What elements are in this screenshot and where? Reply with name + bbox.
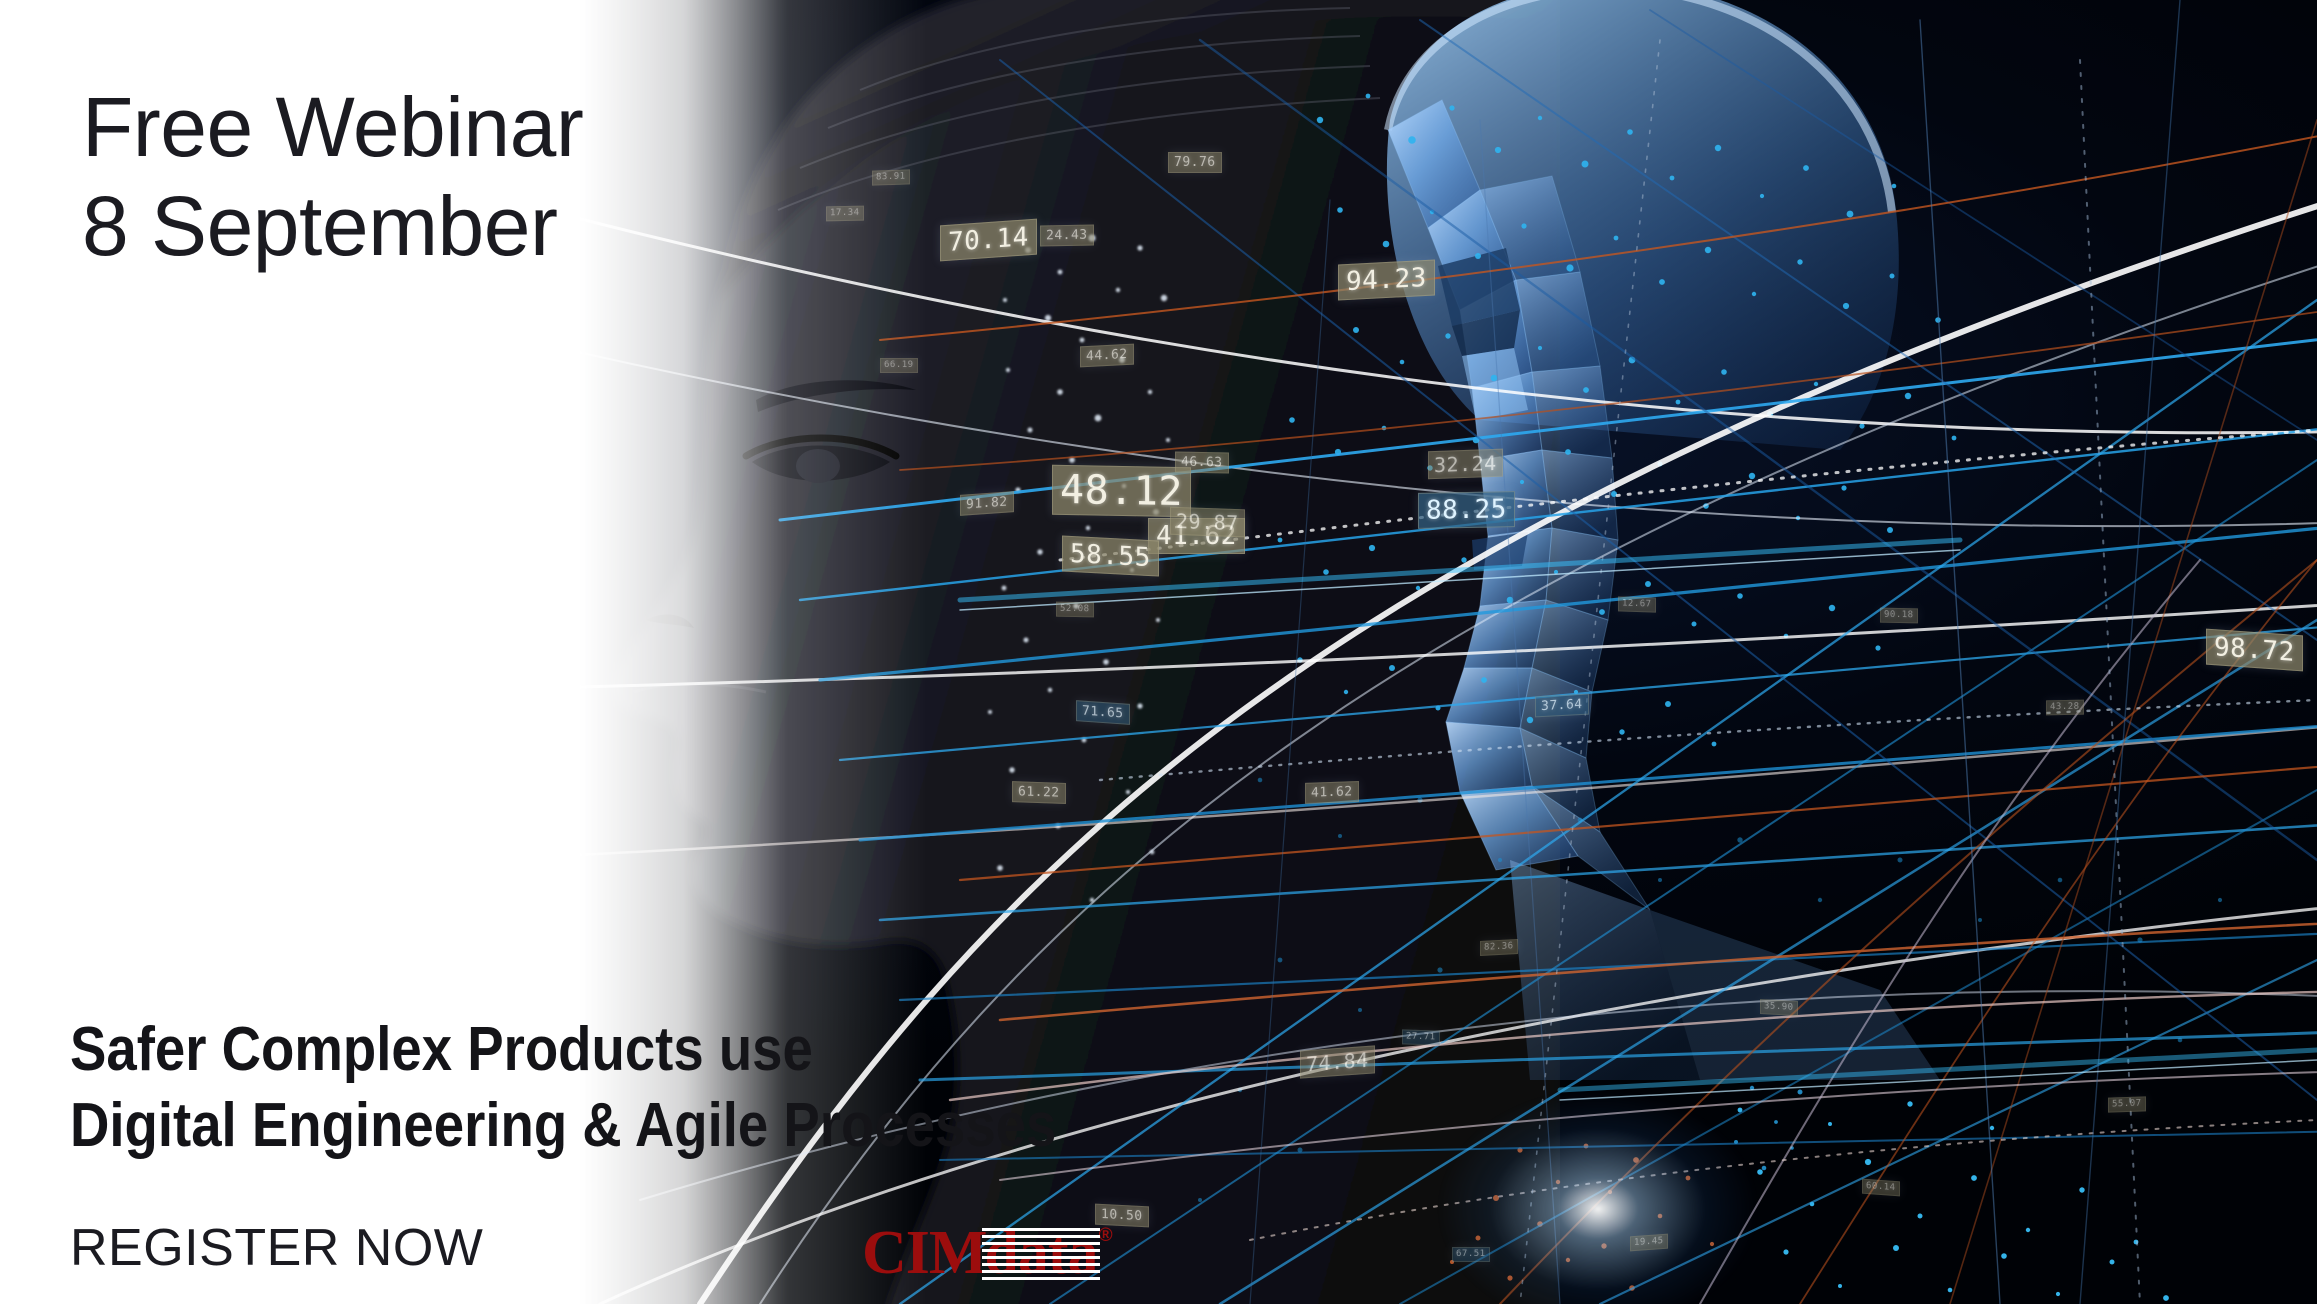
data-label: 74.84: [1300, 1045, 1375, 1078]
data-label: 37.64: [1535, 694, 1589, 718]
data-label: 12.67: [1618, 596, 1656, 612]
data-label: 94.23: [1338, 259, 1435, 300]
data-label: 98.72: [2206, 629, 2303, 672]
data-label: 67.51: [1452, 1247, 1490, 1262]
data-label: 17.34: [826, 206, 864, 222]
data-label: 79.76: [1168, 152, 1222, 173]
page-title: Free Webinar 8 September: [82, 78, 583, 276]
data-label: 52.08: [1056, 602, 1094, 618]
data-label: 44.62: [1080, 344, 1134, 368]
subhead-line-1: Safer Complex Products use: [70, 1012, 1056, 1088]
headline-line-1: Free Webinar: [82, 78, 583, 177]
subhead-line-2: Digital Engineering & Agile Processes: [70, 1088, 1056, 1164]
data-label: 19.45: [1630, 1234, 1668, 1252]
webinar-subject: Safer Complex Products use Digital Engin…: [70, 1012, 1056, 1163]
data-label: 61.22: [1012, 781, 1066, 804]
data-label: 58.55: [1062, 535, 1159, 576]
registered-trademark-icon: ®: [1099, 1226, 1113, 1245]
data-label: 71.65: [1076, 700, 1130, 725]
data-label: 46.63: [1175, 452, 1229, 474]
data-label: 88.25: [1418, 491, 1515, 529]
headline-line-2: 8 September: [82, 177, 583, 276]
data-label: 91.82: [960, 491, 1014, 516]
data-label: 66.19: [880, 358, 918, 373]
data-label: 83.91: [872, 169, 910, 185]
data-label: 27.71: [1402, 1029, 1440, 1045]
register-now-button[interactable]: REGISTER NOW: [70, 1218, 483, 1278]
data-label: 55.07: [2108, 1096, 2146, 1112]
data-label: 82.36: [1480, 939, 1518, 956]
data-label: 90.18: [1880, 608, 1918, 624]
data-label: 32.24: [1428, 449, 1503, 480]
logo-text-data: data: [984, 1222, 1097, 1284]
webinar-banner: 70.1494.2332.2488.2541.6248.1229.8758.55…: [0, 0, 2317, 1304]
data-label: 70.14: [940, 219, 1037, 262]
data-label: 41.62: [1305, 781, 1359, 804]
logo-text-cim: CIM: [862, 1222, 986, 1284]
data-label: 35.90: [1760, 999, 1798, 1016]
data-label: 24.43: [1040, 225, 1094, 247]
data-label: 43.28: [2046, 700, 2084, 716]
data-label: 29.87: [1170, 507, 1245, 538]
cimdata-logo[interactable]: CIM data ®: [862, 1222, 1113, 1284]
data-label: 60.14: [1862, 1179, 1900, 1197]
